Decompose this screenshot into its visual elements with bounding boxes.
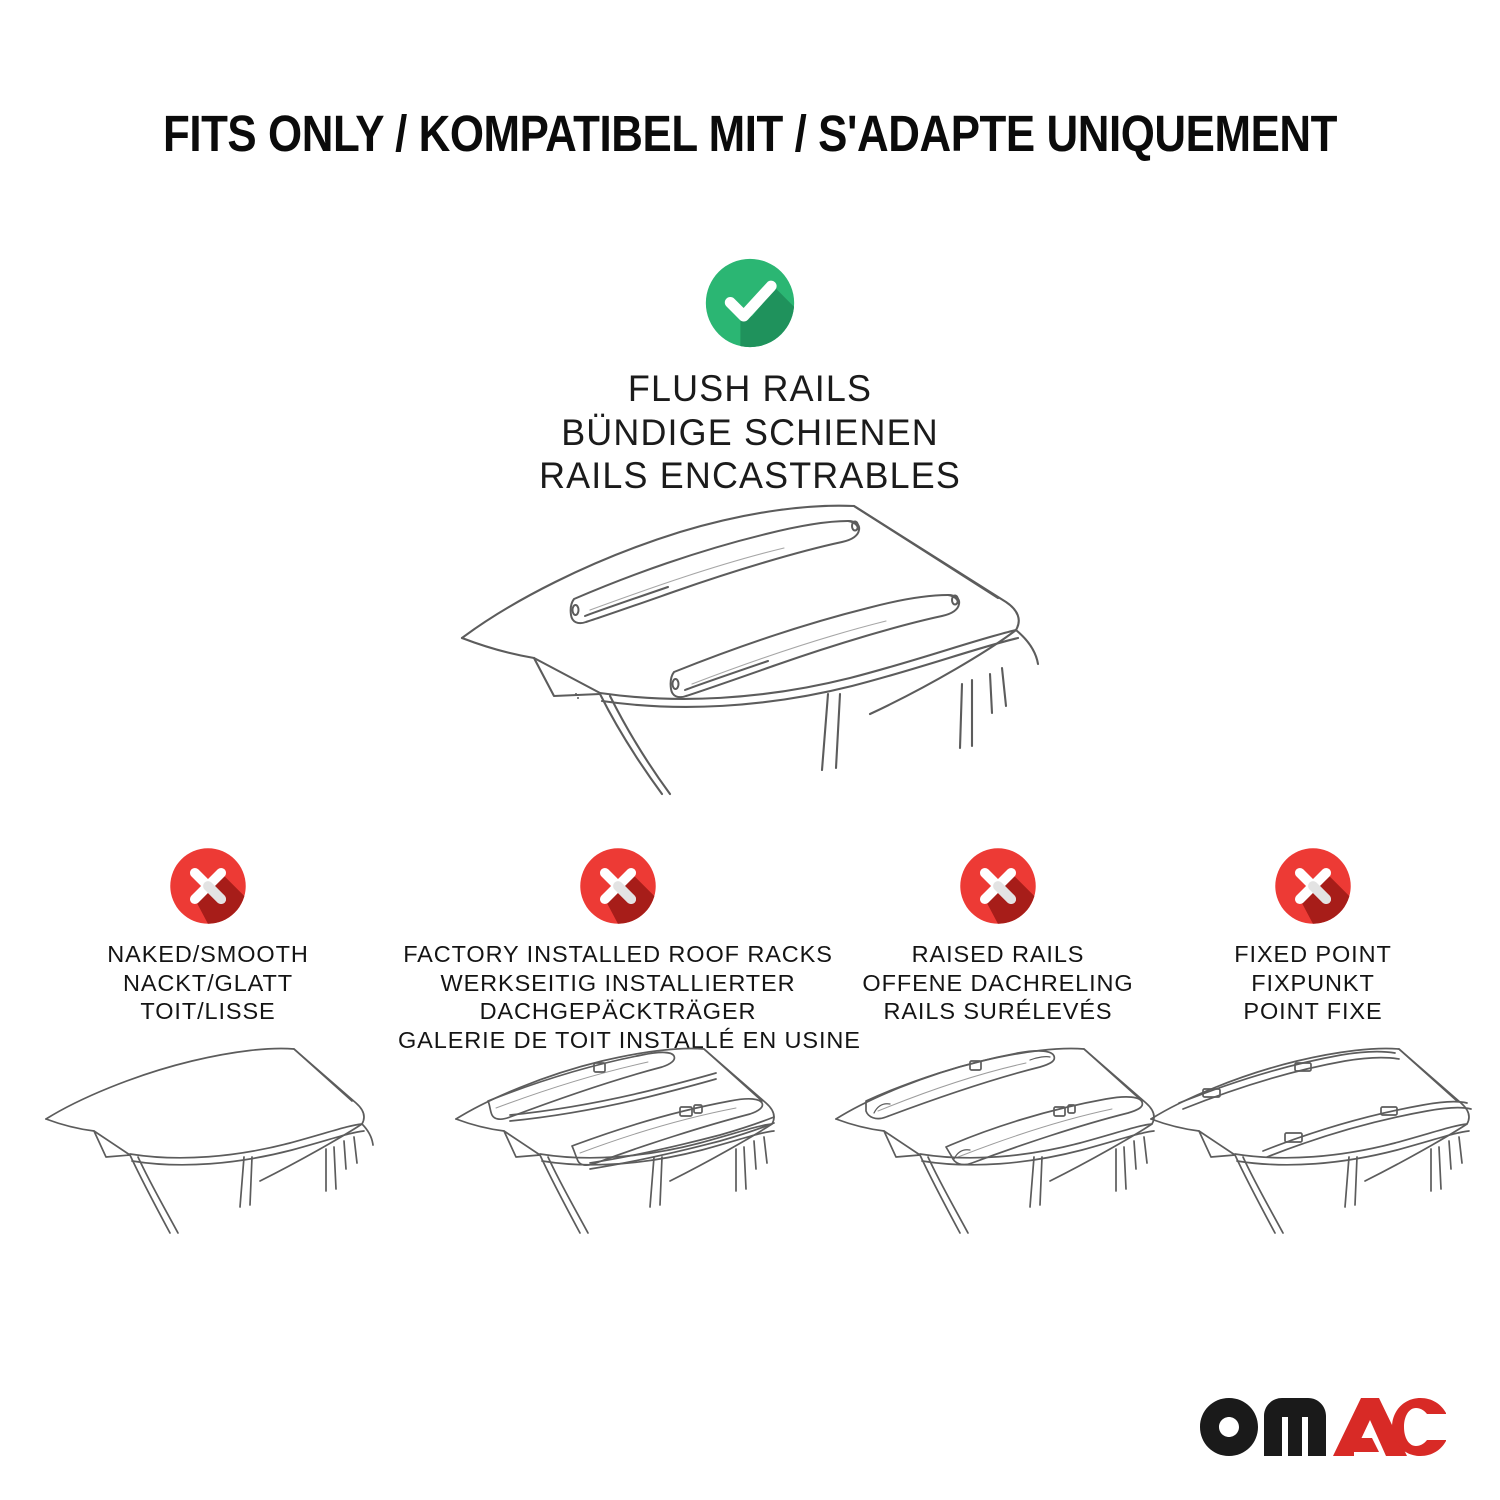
incompatible-label-en: FACTORY INSTALLED ROOF RACKS — [398, 940, 838, 969]
x-circle-icon — [167, 845, 249, 927]
car-roof-with-raised-rails-illustration — [828, 1041, 1168, 1276]
page-title: FITS ONLY / KOMPATIBEL MIT / S'ADAPTE UN… — [105, 108, 1395, 159]
incompatible-label-de: FIXPUNKT — [1158, 969, 1468, 998]
omac-logo — [1198, 1396, 1448, 1458]
x-circle-icon — [577, 845, 659, 927]
compatible-label-en: FLUSH RAILS — [23, 367, 1478, 411]
incompatible-item-raised-rails: RAISED RAILS OFFENE DACHRELING RAILS SUR… — [838, 845, 1158, 1026]
incompatible-labels: FACTORY INSTALLED ROOF RACKS WERKSEITIG … — [398, 940, 838, 1055]
x-circle-icon — [957, 845, 1039, 927]
header: FITS ONLY / KOMPATIBEL MIT / S'ADAPTE UN… — [0, 108, 1500, 159]
compatible-labels: FLUSH RAILS BÜNDIGE SCHIENEN RAILS ENCAS… — [23, 367, 1478, 498]
incompatible-label-fr: TOIT/LISSE — [18, 997, 398, 1026]
compatible-label-fr: RAILS ENCASTRABLES — [23, 454, 1478, 498]
incompatible-item-fixed-point: FIXED POINT FIXPUNKT POINT FIXE — [1158, 845, 1468, 1026]
x-circle-icon — [1272, 845, 1354, 927]
incompatible-item-naked-smooth: NAKED/SMOOTH NACKT/GLATT TOIT/LISSE — [18, 845, 398, 1026]
incompatible-label-fr: RAILS SURÉLEVÉS — [838, 997, 1158, 1026]
incompatible-label-en: FIXED POINT — [1158, 940, 1468, 969]
incompatible-label-en: NAKED/SMOOTH — [18, 940, 398, 969]
car-roof-with-factory-crossbars-illustration — [448, 1041, 788, 1276]
incompatible-label-de: OFFENE DACHRELING — [838, 969, 1158, 998]
incompatible-label-de-2: DACHGEPÄCKTRÄGER — [398, 997, 838, 1026]
incompatible-section: NAKED/SMOOTH NACKT/GLATT TOIT/LISSE — [0, 845, 1500, 1405]
incompatible-labels: FIXED POINT FIXPUNKT POINT FIXE — [1158, 940, 1468, 1026]
incompatible-label-de-1: WERKSEITIG INSTALLIERTER — [398, 969, 838, 998]
incompatible-labels: RAISED RAILS OFFENE DACHRELING RAILS SUR… — [838, 940, 1158, 1026]
incompatible-label-en: RAISED RAILS — [838, 940, 1158, 969]
car-roof-with-flush-rails-illustration — [450, 498, 1050, 798]
car-roof-bare-illustration — [38, 1041, 378, 1276]
compatible-label-de: BÜNDIGE SCHIENEN — [23, 411, 1478, 455]
check-circle-icon — [702, 255, 798, 351]
incompatible-label-fr: POINT FIXE — [1158, 997, 1468, 1026]
compatible-section: FLUSH RAILS BÜNDIGE SCHIENEN RAILS ENCAS… — [0, 255, 1500, 498]
car-roof-with-fixed-points-illustration — [1143, 1041, 1483, 1276]
incompatible-label-de: NACKT/GLATT — [18, 969, 398, 998]
incompatible-item-factory-roof-racks: FACTORY INSTALLED ROOF RACKS WERKSEITIG … — [398, 845, 838, 1055]
incompatible-labels: NAKED/SMOOTH NACKT/GLATT TOIT/LISSE — [18, 940, 398, 1026]
